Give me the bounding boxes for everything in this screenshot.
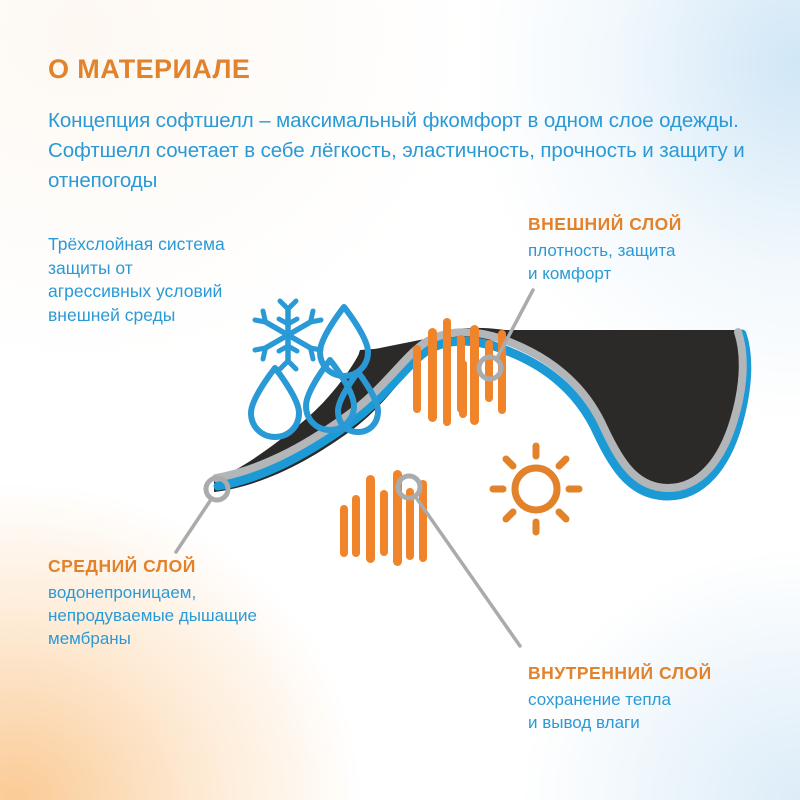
water-drops-pair-icon [306,360,378,432]
marker-middle-layer [176,478,228,552]
callout-middle-title: СРЕДНИЙ СЛОЙ [48,556,257,577]
callout-inner-body: сохранение тепла и вывод влаги [528,688,712,734]
callout-middle-layer: СРЕДНИЙ СЛОЙ водонепроницаем, непродувае… [48,556,257,650]
callout-middle-body-line1: водонепроницаем, [48,581,257,604]
callout-outer-title: ВНЕШНИЙ СЛОЙ [528,214,682,235]
callout-outer-body: плотность, защита и комфорт [528,239,682,285]
vapor-bars-lower [340,470,427,566]
infographic-canvas: О МАТЕРИАЛЕ Концепция софтшелл – максима… [0,0,800,800]
fabric-blue-membrane [218,334,747,496]
vapor-bars-upper [413,318,506,426]
sun-icon [493,446,579,532]
intro-paragraph: Концепция софтшелл – максимальный фкомфо… [48,106,764,196]
callout-outer-body-line2: и комфорт [528,262,682,285]
fabric-black-sheet [214,330,750,492]
callout-inner-layer: ВНУТРЕННИЙ СЛОЙ сохранение тепла и вывод… [528,663,712,734]
fabric-gray-layer [214,328,606,492]
marker-outer-layer [479,290,533,379]
callout-middle-body-line2: непродуваемые дышащие [48,604,257,627]
callout-inner-title: ВНУТРЕННИЙ СЛОЙ [528,663,712,684]
callout-outer-body-line1: плотность, защита [528,239,682,262]
left-description-note: Трёхслойная система защиты от агрессивны… [48,233,228,327]
fabric-gray-edge [216,332,743,488]
callout-middle-body: водонепроницаем, непродуваемые дышащие м… [48,581,257,650]
callout-outer-layer: ВНЕШНИЙ СЛОЙ плотность, защита и комфорт [528,214,682,285]
callout-inner-body-line2: и вывод влаги [528,711,712,734]
callout-inner-body-line1: сохранение тепла [528,688,712,711]
water-drop-icon [251,368,299,437]
snowflake-icon [255,301,321,369]
callout-middle-body-line3: мембраны [48,627,257,650]
fabric-black-upper [338,328,606,422]
water-drop-icon [320,307,368,376]
marker-inner-layer [398,476,520,646]
page-title: О МАТЕРИАЛЕ [48,54,250,85]
